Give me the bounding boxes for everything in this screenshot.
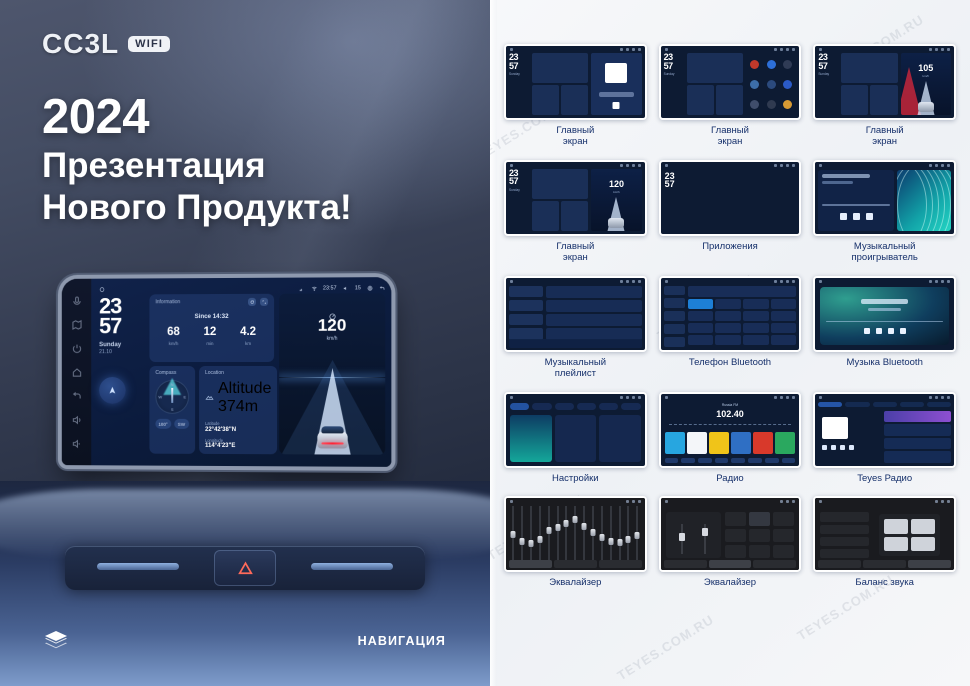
home-screen-body: 23 57 Sunday 21.10 Information [99, 293, 385, 454]
brand-logo: CC3L WIFI [42, 28, 170, 60]
stat-distance: 4.2 km [240, 327, 256, 346]
signal-icon [299, 285, 305, 291]
watermark: TEYES.COM.RU [614, 612, 716, 684]
speed-value: 120 [318, 317, 347, 334]
driving-view[interactable]: 120 km/h [279, 293, 385, 454]
music-playlist-screen[interactable] [504, 276, 647, 352]
compass-title: Compass [155, 370, 189, 376]
wifi-badge: WIFI [128, 36, 170, 52]
refresh-icon[interactable] [248, 298, 256, 306]
dashboard-lower: НАВИГАЦИЯ [0, 481, 490, 686]
thumb-status-bar [661, 162, 800, 169]
thumb-status-bar [815, 278, 954, 285]
gallery-item: Teyes Радио [813, 392, 956, 485]
longitude-label: Longitude [205, 437, 271, 442]
altitude-label: Altitude [218, 380, 271, 397]
gear-icon[interactable] [367, 285, 373, 291]
gallery-item: Музыкальныйплейлист [504, 276, 647, 380]
gallery-item-caption: Эквалайзер [549, 578, 601, 589]
gallery-item: Музыка Bluetooth [813, 276, 956, 380]
gallery-item: Эквалайзер [659, 496, 802, 589]
equalizer-screen-2[interactable] [659, 496, 802, 572]
compass-direction: SW [174, 419, 189, 429]
headline-line-2: Нового Продукта! [42, 188, 352, 227]
trip-stats: 68 km/h 12 min 4.2 km [155, 327, 268, 346]
main-screen-speed[interactable]: 2357Sunday 105 km/h [813, 44, 956, 120]
speed-unit: km/h [327, 336, 338, 342]
hazard-button[interactable] [214, 550, 276, 586]
expand-icon[interactable] [260, 298, 268, 306]
gallery-item-caption: Радио [716, 474, 743, 485]
compass-heading: 180° [155, 419, 170, 429]
panel-divider [490, 0, 497, 686]
volume-level: 15 [355, 285, 361, 291]
gallery-item-caption: Телефон Bluetooth [689, 358, 771, 369]
stat-speed: 68 km/h [167, 327, 180, 345]
thumb-status-bar [506, 394, 645, 401]
back-icon[interactable] [71, 390, 82, 401]
thumb-status-bar [815, 162, 954, 169]
mountain-icon [205, 389, 214, 407]
gallery-item: Телефон Bluetooth [659, 276, 802, 380]
headline-line-1: Презентация [42, 146, 352, 185]
hazard-triangle-icon [237, 560, 254, 577]
thumb-status-bar [661, 278, 800, 285]
gallery-item-caption: Настройки [552, 474, 599, 485]
status-clock: 23:57 [323, 285, 337, 291]
wifi-icon [311, 285, 317, 291]
gallery-item: 2357Sunday 105 km/h Главныйэкран [813, 44, 956, 148]
compass-west: W [158, 394, 162, 399]
gallery-item: Настройки [504, 392, 647, 485]
volume-up-icon[interactable] [71, 414, 82, 425]
back-arrow-icon[interactable] [379, 285, 385, 291]
latitude-label: Latitude [205, 421, 271, 426]
navigation-label: НАВИГАЦИЯ [358, 634, 446, 648]
compass-dial: N S W E [155, 380, 189, 414]
thumb-status-bar [815, 394, 954, 401]
home-icon[interactable] [99, 286, 105, 292]
gallery-item: Russia FM 102.40 Радио [659, 392, 802, 485]
head-unit-screen[interactable]: 23:57 15 23 57 Sunday 21.10 [91, 277, 391, 467]
gallery-item: Музыкальныйпроигрыватель [813, 160, 956, 264]
volume-icon [343, 285, 349, 291]
compass-card[interactable]: Compass N S W E [149, 366, 195, 454]
main-screen-media[interactable]: 2357Sunday [504, 44, 647, 120]
thumb-status-bar [506, 162, 645, 169]
gallery-item-caption: Музыкальныйплейлист [545, 358, 606, 380]
main-screen-apps[interactable]: 2357Sunday [659, 44, 802, 120]
bluetooth-music-screen[interactable] [813, 276, 956, 352]
navigation-arrow-icon[interactable] [99, 377, 126, 404]
main-screen-drive[interactable]: 2357Sunday 120 km/h [504, 160, 647, 236]
gallery-item-caption: Главныйэкран [556, 126, 594, 148]
latitude-value: 22°42'38"N [205, 426, 271, 432]
information-title: Information [155, 299, 180, 305]
mic-icon[interactable] [71, 295, 82, 306]
gallery-item: Баланс звука [813, 496, 956, 589]
compass-east: E [183, 394, 186, 399]
widget-column: Information Since 14:32 68 km/h [149, 294, 274, 454]
gallery-item-caption: Teyes Радио [857, 474, 912, 485]
gallery-item-caption: Главныйэкран [866, 126, 904, 148]
equalizer-screen[interactable] [504, 496, 647, 572]
apps-screen[interactable]: 2357 [659, 160, 802, 236]
location-card[interactable]: Location Altitude 374m Latitude [199, 366, 277, 454]
clock-date: 21.10 [99, 350, 144, 356]
clock-minutes: 57 [99, 316, 144, 336]
head-unit-side-buttons[interactable] [62, 279, 91, 466]
radio-screen[interactable]: Russia FM 102.40 [659, 392, 802, 468]
gallery-item-caption: Баланс звука [855, 578, 914, 589]
footer-row: НАВИГАЦИЯ [0, 630, 490, 652]
clock-widget[interactable]: 23 57 Sunday 21.10 [99, 294, 144, 453]
thumb-status-bar [815, 46, 954, 53]
gallery-item: Эквалайзер [504, 496, 647, 589]
presentation-slide: CC3L WIFI 2024 Презентация Нового Продук… [0, 0, 970, 686]
information-card[interactable]: Information Since 14:32 68 km/h [149, 294, 274, 362]
map-icon[interactable] [71, 319, 82, 330]
power-icon[interactable] [71, 343, 82, 354]
volume-down-icon[interactable] [71, 438, 82, 449]
air-vent [65, 546, 425, 590]
altitude-value: 374m [218, 398, 271, 416]
headline-year: 2024 [42, 92, 352, 143]
clock-day: Sunday [99, 342, 144, 349]
thumb-status-bar [661, 394, 800, 401]
screens-grid: 2357Sunday Главныйэкран 2357Sunday [504, 44, 956, 589]
gallery-item-caption: Музыкальныйпроигрыватель [852, 242, 918, 264]
longitude-value: 114°4'23"E [205, 443, 271, 449]
car-illustration [317, 424, 347, 448]
gallery-item: 2357Sunday 120 km/h Главныйэкран [504, 160, 647, 264]
location-title: Location [205, 370, 271, 376]
gallery-item-caption: Приложения [702, 242, 758, 253]
bluetooth-phone-screen[interactable] [659, 276, 802, 352]
gallery-item-caption: Эквалайзер [704, 578, 756, 589]
head-unit-device: 23:57 15 23 57 Sunday 21.10 [62, 277, 392, 467]
gallery-item-caption: Главныйэкран [711, 126, 749, 148]
thumb-status-bar [506, 46, 645, 53]
trip-since: Since 14:32 [155, 313, 268, 320]
hero-panel: CC3L WIFI 2024 Презентация Нового Продук… [0, 0, 490, 686]
home-icon[interactable] [71, 367, 82, 378]
music-player-screen[interactable] [813, 160, 956, 236]
screens-gallery-panel: TEYES.COM.RU TEYES.COM.RU TEYES.COM.RU T… [490, 0, 970, 686]
settings-screen[interactable] [504, 392, 647, 468]
sound-balance-screen[interactable] [813, 496, 956, 572]
teyes-radio-screen[interactable] [813, 392, 956, 468]
gallery-item: 2357Sunday Главныйэкран [659, 44, 802, 148]
gallery-item: 2357 Приложения [659, 160, 802, 264]
thumb-status-bar [506, 278, 645, 285]
compass-south: S [171, 407, 174, 412]
gallery-item-caption: Главныйэкран [556, 242, 594, 264]
brand-model: CC3L [42, 28, 119, 60]
compass-north: N [171, 382, 174, 387]
layers-icon[interactable] [44, 630, 68, 652]
gallery-item-caption: Музыка Bluetooth [846, 358, 922, 369]
gallery-item: 2357Sunday Главныйэкран [504, 44, 647, 148]
thumb-status-bar [661, 46, 800, 53]
headline: 2024 Презентация Нового Продукта! [42, 92, 352, 227]
stat-duration: 12 min [204, 327, 217, 346]
